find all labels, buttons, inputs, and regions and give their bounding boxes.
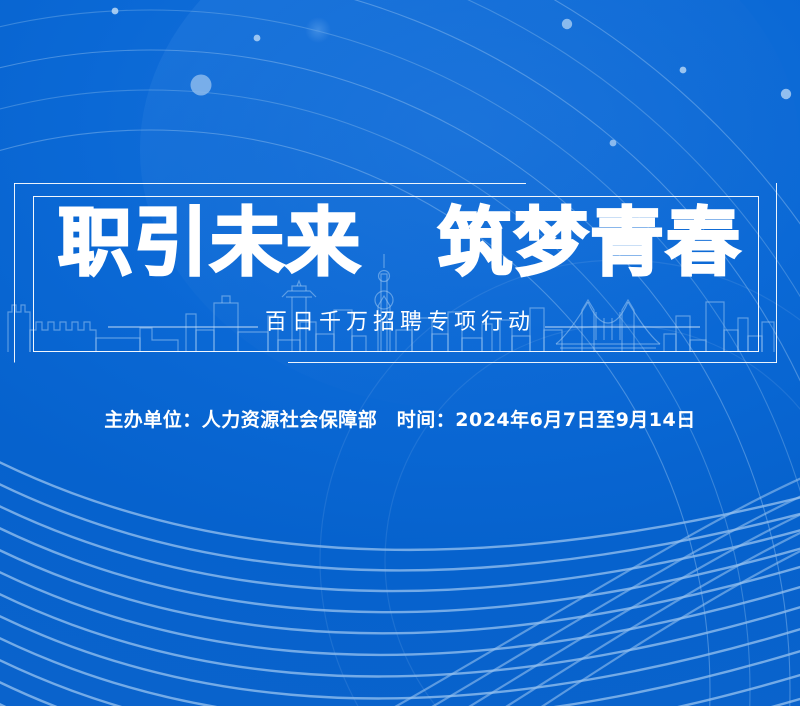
recruitment-campaign-banner: 职引未来 筑梦青春 百日千万招聘专项行动 主办单位：人力资源社会保障部 时间：2… xyxy=(0,0,800,706)
headline: 职引未来 筑梦青春 xyxy=(0,206,800,280)
organizer-and-date-line: 主办单位：人力资源社会保障部 时间：2024年6月7日至9月14日 xyxy=(0,405,800,432)
subtitle: 百日千万招聘专项行动 xyxy=(0,310,800,336)
